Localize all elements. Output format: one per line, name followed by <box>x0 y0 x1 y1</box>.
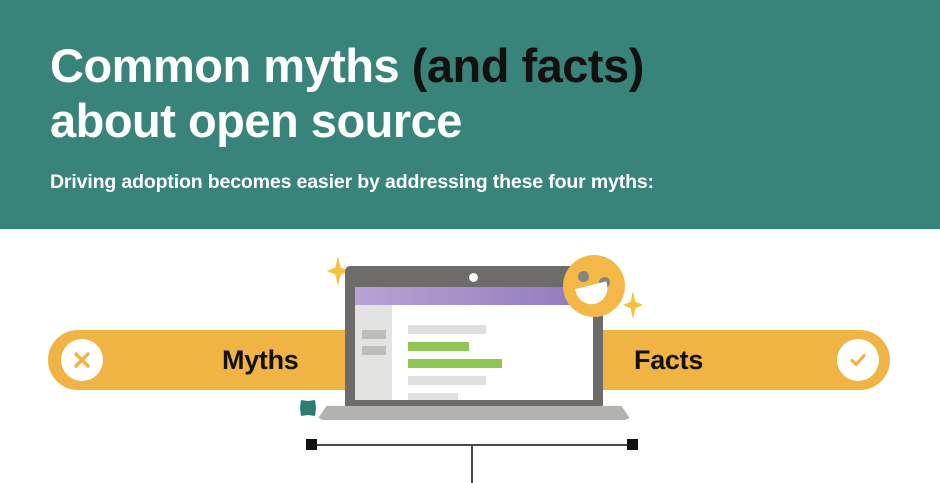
content-line <box>408 376 486 385</box>
content-line-highlight <box>408 342 469 351</box>
teal-diamond-marker <box>300 400 316 416</box>
page-title-main: Common myths <box>50 39 412 92</box>
smiling-face-icon <box>563 255 625 317</box>
screen-topbar <box>355 287 593 305</box>
check-mark-icon <box>847 349 869 371</box>
facts-icon-badge <box>837 339 879 381</box>
myths-label: Myths <box>222 345 299 376</box>
page-title: Common myths (and facts)about open sourc… <box>50 38 890 148</box>
content-line <box>408 393 458 400</box>
emoji-eye <box>578 271 589 282</box>
content-line-highlight <box>408 359 502 368</box>
myths-icon-badge <box>61 339 103 381</box>
connector-node-right <box>627 439 638 450</box>
emoji-mouth <box>575 281 611 307</box>
sidebar-block <box>362 330 386 339</box>
content-line <box>408 325 486 334</box>
sparkle-icon-right <box>623 291 643 319</box>
page-title-accent: (and facts) <box>412 39 644 92</box>
page-subtitle: Driving adoption becomes easier by addre… <box>50 171 654 194</box>
connector-vertical-line <box>471 445 473 483</box>
header-band: Common myths (and facts)about open sourc… <box>0 0 940 229</box>
page-title-line2: about open source <box>50 94 462 147</box>
x-mark-icon <box>71 349 93 371</box>
infographic-page: Common myths (and facts)about open sourc… <box>0 0 940 483</box>
laptop-base <box>317 406 631 420</box>
sidebar-block <box>362 346 386 355</box>
connector-node-left <box>306 439 317 450</box>
laptop-camera-icon <box>469 273 478 282</box>
screen-sidebar <box>355 305 392 400</box>
laptop-screen <box>355 287 593 400</box>
facts-label: Facts <box>634 345 703 376</box>
